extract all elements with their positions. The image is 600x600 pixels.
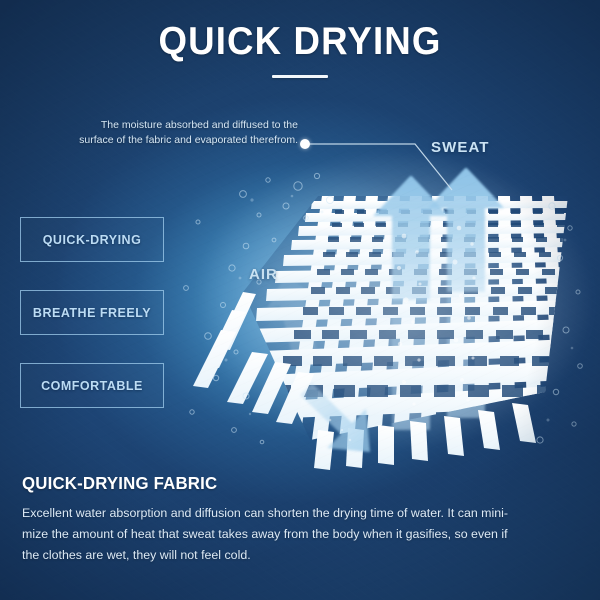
feature-label: QUICK-DRYING bbox=[43, 233, 142, 247]
page-title: QUICK DRYING bbox=[18, 22, 582, 61]
bottom-body-line-2: mize the amount of heat that sweat takes… bbox=[22, 524, 582, 545]
air-label: AIR bbox=[249, 266, 278, 283]
sweat-arrow-up-right bbox=[428, 168, 504, 418]
woven-mesh-plane bbox=[206, 196, 586, 440]
callout-text: The moisture absorbed and diffused to th… bbox=[70, 118, 298, 148]
arrow-bubbles bbox=[397, 226, 476, 406]
water-droplets-filled bbox=[225, 195, 574, 422]
bottom-body-line-3: the clothes are wet, they will not feel … bbox=[22, 545, 582, 566]
page-title-block: QUICK DRYING bbox=[0, 22, 600, 78]
feature-label: BREATHE FREELY bbox=[33, 306, 151, 320]
bottom-body: Excellent water absorption and diffusion… bbox=[22, 503, 582, 566]
bottom-heading: QUICK-DRYING FABRIC bbox=[22, 473, 560, 494]
feature-box-comfortable[interactable]: COMFORTABLE bbox=[20, 363, 164, 408]
mesh-fringe-left bbox=[193, 292, 314, 424]
feature-box-quick-drying[interactable]: QUICK-DRYING bbox=[20, 217, 164, 262]
sweat-arrow-up-right-head bbox=[428, 168, 504, 292]
feature-box-breathe-freely[interactable]: BREATHE FREELY bbox=[20, 290, 164, 335]
sweat-arrow-up-left-head bbox=[373, 176, 449, 300]
callout-dot-icon bbox=[300, 139, 310, 149]
feature-label: COMFORTABLE bbox=[41, 379, 143, 393]
bottom-body-line-1: Excellent water absorption and diffusion… bbox=[22, 503, 582, 524]
sweat-arrow-up-left bbox=[373, 176, 449, 430]
bottom-description-block: QUICK-DRYING FABRIC Excellent water abso… bbox=[22, 473, 582, 566]
title-divider bbox=[272, 75, 328, 78]
mesh-fringe-bottom bbox=[314, 403, 536, 470]
sweat-label: SWEAT bbox=[431, 139, 490, 156]
water-droplets bbox=[184, 173, 583, 443]
infographic-canvas: QUICK DRYING The moisture absorbed and d… bbox=[0, 0, 600, 600]
moisture-arrow-down bbox=[300, 383, 370, 452]
air-arrow-up-diagonal bbox=[261, 269, 331, 365]
